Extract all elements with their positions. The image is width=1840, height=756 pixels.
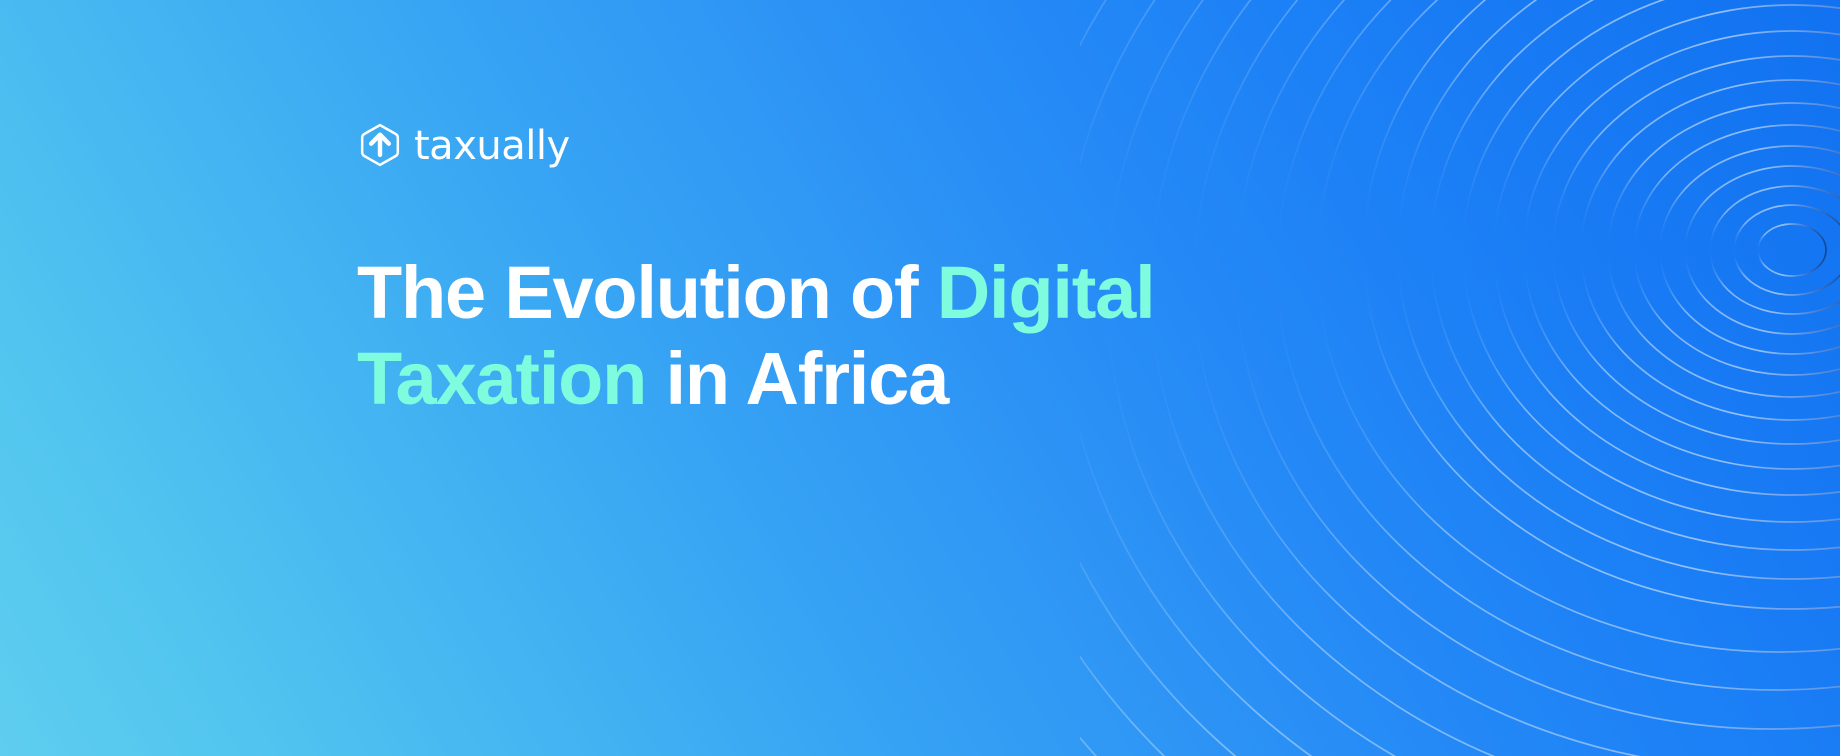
concentric-arc-pattern [1080, 0, 1840, 756]
page-title: The Evolution of Digital Taxation in Afr… [357, 250, 1157, 422]
headline-line-2: Taxation in Africa [357, 336, 1157, 422]
headline-line-1-plain: The Evolution of [357, 251, 937, 334]
headline-line-2-accent: Taxation [357, 337, 646, 420]
headline-line-1-accent: Digital [937, 251, 1155, 334]
brand-logo[interactable]: taxually [357, 121, 570, 169]
banner-content: taxually The Evolution of Digital Taxati… [357, 0, 1177, 756]
headline-line-1: The Evolution of Digital [357, 250, 1157, 336]
headline-line-2-plain: in Africa [646, 337, 948, 420]
hero-banner: taxually The Evolution of Digital Taxati… [0, 0, 1840, 756]
hexagon-up-arrow-icon [357, 122, 403, 168]
brand-wordmark: taxually [414, 126, 570, 166]
